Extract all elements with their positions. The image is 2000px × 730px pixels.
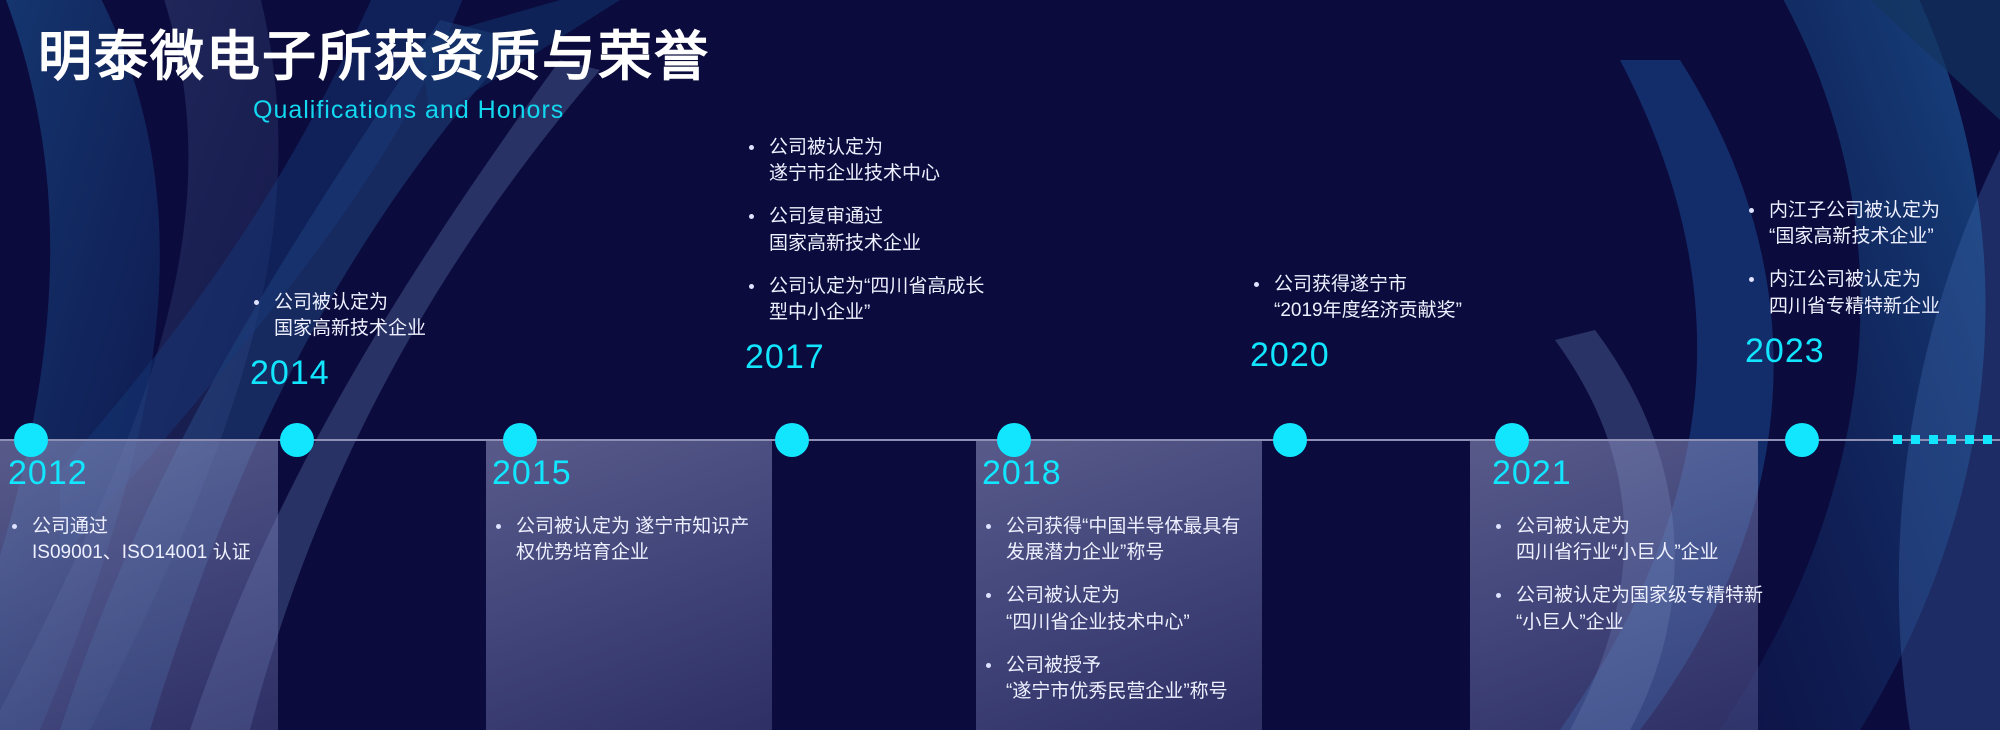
- timeline-dot-2014[interactable]: [280, 423, 314, 457]
- year-label-2015: 2015: [492, 456, 760, 490]
- timeline-dot-2017[interactable]: [775, 423, 809, 457]
- timeline-entry-2015: 2015公司被认定为 遂宁市知识产权优势培育企业: [492, 456, 760, 566]
- timeline-entry-2012: 2012公司通过 IS09001、ISO14001 认证: [8, 456, 308, 566]
- bullet-list-2021: 公司被认定为 四川省行业“小巨人”企业公司被认定为国家级专精特新 “小巨人”企业: [1492, 514, 1792, 636]
- year-label-2021: 2021: [1492, 456, 1792, 490]
- dash-segment: [1983, 435, 1992, 444]
- bullet-list-2014: 公司被认定为 国家高新技术企业: [250, 290, 550, 342]
- dash-segment: [1893, 435, 1902, 444]
- timeline-dashed-tail: [1893, 435, 1992, 444]
- bullet-list-2015: 公司被认定为 遂宁市知识产权优势培育企业: [492, 514, 760, 566]
- timeline-entry-2021: 2021公司被认定为 四川省行业“小巨人”企业公司被认定为国家级专精特新 “小巨…: [1492, 456, 1792, 636]
- dash-segment: [1947, 435, 1956, 444]
- bullet-list-2020: 公司获得遂宁市 “2019年度经济贡献奖”: [1250, 272, 1550, 324]
- bullet-item: 公司被授予 “遂宁市优秀民营企业”称号: [982, 653, 1272, 705]
- timeline-entry-2023: 内江子公司被认定为 “国家高新技术企业”内江公司被认定为 四川省专精特新企业20…: [1745, 198, 2000, 368]
- bullet-item: 公司被认定为 四川省行业“小巨人”企业: [1492, 514, 1792, 566]
- bullet-item: 内江子公司被认定为 “国家高新技术企业”: [1745, 198, 2000, 250]
- bullet-item: 公司被认定为 遂宁市企业技术中心: [745, 135, 1045, 187]
- bullet-list-2017: 公司被认定为 遂宁市企业技术中心公司复审通过 国家高新技术企业公司认定为“四川省…: [745, 135, 1045, 326]
- bullet-item: 公司认定为“四川省高成长 型中小企业”: [745, 274, 1045, 326]
- timeline-dot-2021[interactable]: [1495, 423, 1529, 457]
- timeline-entry-2018: 2018公司获得“中国半导体最具有 发展潜力企业”称号公司被认定为 “四川省企业…: [982, 456, 1272, 705]
- header: 明泰微电子所获资质与荣誉 Qualifications and Honors: [38, 28, 710, 125]
- bullet-item: 公司被认定为国家级专精特新 “小巨人”企业: [1492, 583, 1792, 635]
- timeline-dot-2015[interactable]: [503, 423, 537, 457]
- bullet-item: 公司被认定为 “四川省企业技术中心”: [982, 583, 1272, 635]
- bullet-item: 内江公司被认定为 四川省专精特新企业: [1745, 267, 2000, 319]
- year-label-2018: 2018: [982, 456, 1272, 490]
- year-label-2012: 2012: [8, 456, 308, 490]
- timeline-entry-2014: 公司被认定为 国家高新技术企业2014: [250, 290, 550, 390]
- year-label-2017: 2017: [745, 340, 1045, 374]
- timeline-entry-2020: 公司获得遂宁市 “2019年度经济贡献奖”2020: [1250, 272, 1550, 372]
- bullet-item: 公司获得遂宁市 “2019年度经济贡献奖”: [1250, 272, 1550, 324]
- bullet-item: 公司获得“中国半导体最具有 发展潜力企业”称号: [982, 514, 1272, 566]
- dash-segment: [1929, 435, 1938, 444]
- timeline-dot-2023[interactable]: [1785, 423, 1819, 457]
- bullet-item: 公司被认定为 遂宁市知识产权优势培育企业: [492, 514, 760, 566]
- year-label-2023: 2023: [1745, 334, 2000, 368]
- dash-segment: [1911, 435, 1920, 444]
- timeline-entry-2017: 公司被认定为 遂宁市企业技术中心公司复审通过 国家高新技术企业公司认定为“四川省…: [745, 135, 1045, 374]
- year-label-2014: 2014: [250, 356, 550, 390]
- bullet-item: 公司被认定为 国家高新技术企业: [250, 290, 550, 342]
- bullet-list-2012: 公司通过 IS09001、ISO14001 认证: [8, 514, 308, 566]
- timeline-dot-2012[interactable]: [14, 423, 48, 457]
- bullet-list-2018: 公司获得“中国半导体最具有 发展潜力企业”称号公司被认定为 “四川省企业技术中心…: [982, 514, 1272, 705]
- dash-segment: [1965, 435, 1974, 444]
- slide-canvas: 明泰微电子所获资质与荣誉 Qualifications and Honors 2…: [0, 0, 2000, 730]
- page-subtitle: Qualifications and Honors: [253, 96, 710, 125]
- timeline-dot-2018[interactable]: [997, 423, 1031, 457]
- year-label-2020: 2020: [1250, 338, 1550, 372]
- bullet-item: 公司通过 IS09001、ISO14001 认证: [8, 514, 308, 566]
- timeline-dot-2020[interactable]: [1273, 423, 1307, 457]
- page-title: 明泰微电子所获资质与荣誉: [38, 28, 710, 87]
- bullet-list-2023: 内江子公司被认定为 “国家高新技术企业”内江公司被认定为 四川省专精特新企业: [1745, 198, 2000, 320]
- bullet-item: 公司复审通过 国家高新技术企业: [745, 204, 1045, 256]
